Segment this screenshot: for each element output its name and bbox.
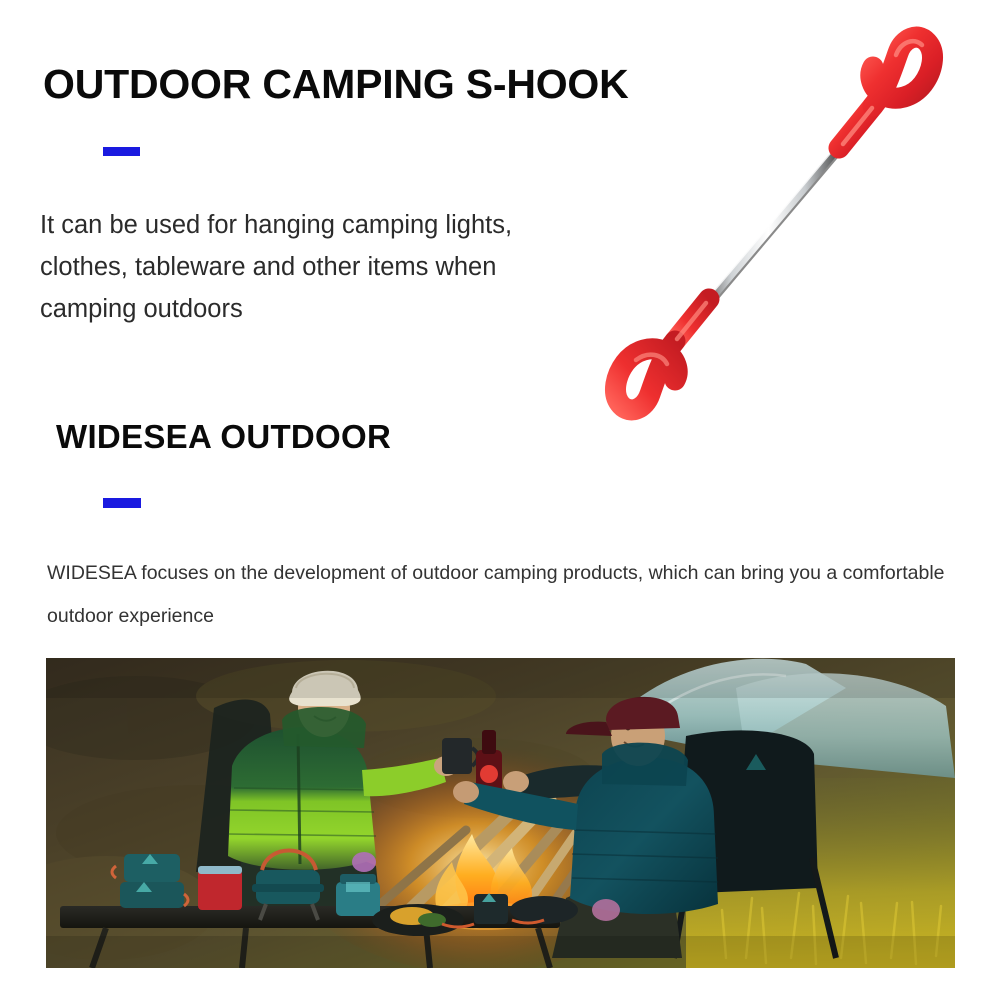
s-hook-illustration [596, 22, 992, 422]
lifestyle-photo [46, 658, 955, 968]
product-description: It can be used for hanging camping light… [40, 204, 580, 330]
brand-description: WIDESEA focuses on the development of ou… [47, 552, 957, 638]
food-plate [372, 904, 464, 936]
s-hook-metal-shaft [705, 141, 845, 305]
campfire-scene-illustration [46, 658, 955, 968]
product-detail-page: OUTDOOR CAMPING S-HOOK It can be used fo… [0, 0, 1000, 1000]
page-title: OUTDOOR CAMPING S-HOOK [43, 62, 629, 108]
accent-bar-product [103, 147, 140, 156]
red-cup [198, 870, 242, 910]
mug [442, 738, 472, 774]
lantern [336, 874, 380, 916]
product-image-s-hook [596, 22, 992, 422]
s-hook-bottom-hook [615, 299, 709, 410]
brand-title: WIDESEA OUTDOOR [56, 419, 391, 456]
accent-bar-brand [103, 498, 141, 508]
s-hook-top-hook [839, 37, 933, 148]
